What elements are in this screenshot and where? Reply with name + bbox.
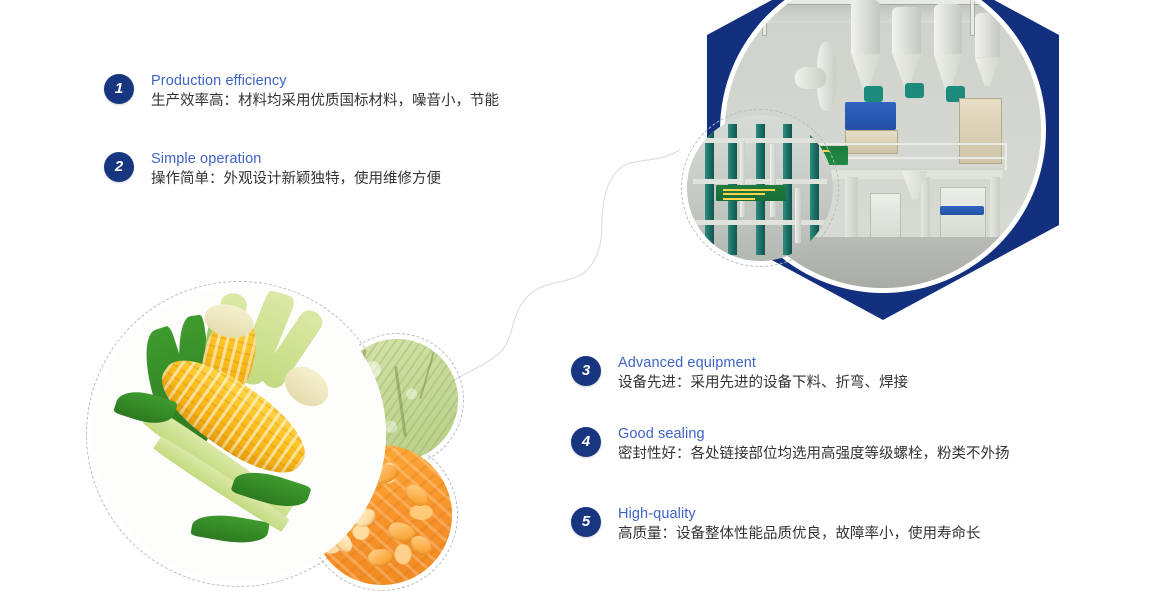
feature-title-en-2: Simple operation <box>151 150 441 168</box>
feature-text-2: Simple operation 操作简单：外观设计新颖独特，使用维修方便 <box>151 150 441 190</box>
feature-title-cn-3: 设备先进：采用先进的设备下料、折弯、焊接 <box>618 373 908 394</box>
feature-title-en-3: Advanced equipment <box>618 354 908 372</box>
feature-title-cn-4: 密封性好：各处链接部位均选用高强度等级螺栓，粉类不外扬 <box>618 444 1010 465</box>
feature-badge-1: 1 <box>104 74 134 104</box>
feature-item-2: 2 Simple operation 操作简单：外观设计新颖独特，使用维修方便 <box>104 150 441 190</box>
feature-text-4: Good sealing 密封性好：各处链接部位均选用高强度等级螺栓，粉类不外扬 <box>618 425 1010 465</box>
feature-text-5: High-quality 高质量：设备整体性能品质优良，故障率小，使用寿命长 <box>618 505 981 545</box>
feature-text-1: Production efficiency 生产效率高：材料均采用优质国标材料，… <box>151 72 499 112</box>
feature-badge-2: 2 <box>104 152 134 182</box>
feature-item-5: 5 High-quality 高质量：设备整体性能品质优良，故障率小，使用寿命长 <box>571 505 981 545</box>
feature-title-en-4: Good sealing <box>618 425 1010 443</box>
feature-title-cn-2: 操作简单：外观设计新颖独特，使用维修方便 <box>151 169 441 190</box>
teal-maize-mill-photo <box>681 109 839 267</box>
feature-badge-4: 4 <box>571 427 601 457</box>
feature-badge-3: 3 <box>571 356 601 386</box>
feature-text-3: Advanced equipment 设备先进：采用先进的设备下料、折弯、焊接 <box>618 354 908 394</box>
feature-item-4: 4 Good sealing 密封性好：各处链接部位均选用高强度等级螺栓，粉类不… <box>571 425 1010 465</box>
feature-title-en-1: Production efficiency <box>151 72 499 90</box>
feature-item-3: 3 Advanced equipment 设备先进：采用先进的设备下料、折弯、焊… <box>571 354 908 394</box>
feature-title-cn-1: 生产效率高：材料均采用优质国标材料，噪音小，节能 <box>151 91 499 112</box>
feature-badge-5: 5 <box>571 507 601 537</box>
corn-cobs-photo <box>92 287 386 581</box>
feature-title-cn-5: 高质量：设备整体性能品质优良，故障率小，使用寿命长 <box>618 524 981 545</box>
feature-title-en-5: High-quality <box>618 505 981 523</box>
feature-item-1: 1 Production efficiency 生产效率高：材料均采用优质国标材… <box>104 72 499 112</box>
infographic-stage: 1 Production efficiency 生产效率高：材料均采用优质国标材… <box>0 0 1154 591</box>
corn-photo-cluster <box>86 281 506 591</box>
